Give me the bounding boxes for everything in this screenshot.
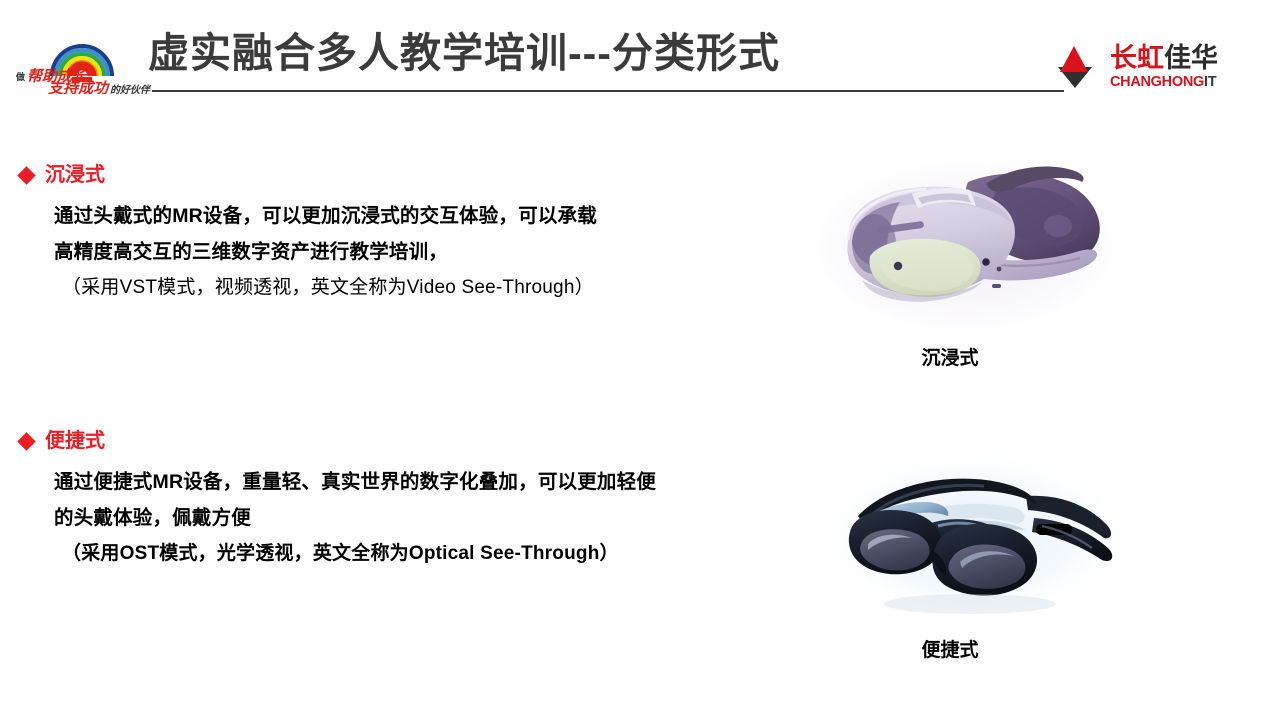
brand-cn-name: 长虹佳华 [1110,44,1252,73]
section-portable: 便捷式 通过便捷式MR设备，重量轻、真实世界的数字化叠加，可以更加轻便 的头戴体… [20,428,780,572]
section-immersive-note: （采用VST模式，视频透视，英文全称为Video See-Through） [54,270,780,306]
section-immersive: 沉浸式 通过头戴式的MR设备，可以更加沉浸式的交互体验，可以承载 高精度高交互的… [20,162,780,306]
vr-headset-image [800,140,1130,340]
brand-en-red: CHANGHONG [1110,74,1204,90]
left-brand-logo: 做 帮助成长 支持成功 的好伙伴 [14,36,164,94]
header-divider [152,90,1064,92]
section-portable-line-2: 的头戴体验，佩戴方便 [54,500,780,536]
brand-cn-red: 长虹 [1110,43,1164,73]
brand-cn-dark: 佳华 [1164,43,1218,73]
section-immersive-line-1: 通过头戴式的MR设备，可以更加沉浸式的交互体验，可以承载 [54,198,780,234]
section-immersive-heading: 沉浸式 [20,162,780,188]
brand-en-name: CHANGHONGIT [1110,74,1252,91]
diamond-bullet-icon [17,166,35,184]
figure-portable-caption: 便捷式 [790,638,1110,664]
left-logo-slogan-tail: 的好伙伴 [110,84,152,94]
section-portable-heading: 便捷式 [20,428,780,454]
right-brand-logo: 长虹佳华 CHANGHONGIT [1110,44,1252,91]
figure-portable: 便捷式 [820,432,1150,682]
figure-immersive-caption: 沉浸式 [790,346,1110,372]
ar-glasses-image [820,432,1150,632]
slide-root: 做 帮助成长 支持成功 的好伙伴 虚实融合多人教学培训---分类形式 长虹佳华 … [0,0,1280,720]
section-portable-line-1: 通过便捷式MR设备，重量轻、真实世界的数字化叠加，可以更加轻便 [54,464,780,500]
section-portable-body: 通过便捷式MR设备，重量轻、真实世界的数字化叠加，可以更加轻便 的头戴体验，佩戴… [20,464,780,572]
section-immersive-line-2: 高精度高交互的三维数字资产进行教学培训， [54,234,780,270]
figure-immersive: 沉浸式 [800,140,1130,390]
diamond-bullet-icon [17,432,35,450]
left-logo-slogan-small: 做 [15,71,26,82]
section-portable-heading-text: 便捷式 [45,428,105,454]
left-logo-slogan-line2: 支持成功 [48,80,110,94]
red-triangle-icon [1060,46,1088,72]
page-title: 虚实融合多人教学培训---分类形式 [148,28,908,78]
slide-header: 做 帮助成长 支持成功 的好伙伴 虚实融合多人教学培训---分类形式 长虹佳华 … [0,0,1280,110]
section-immersive-heading-text: 沉浸式 [45,162,105,188]
section-immersive-body: 通过头戴式的MR设备，可以更加沉浸式的交互体验，可以承载 高精度高交互的三维数字… [20,198,780,306]
brand-en-dark: IT [1204,74,1216,90]
section-portable-note: （采用OST模式，光学透视，英文全称为Optical See-Through） [54,536,780,572]
